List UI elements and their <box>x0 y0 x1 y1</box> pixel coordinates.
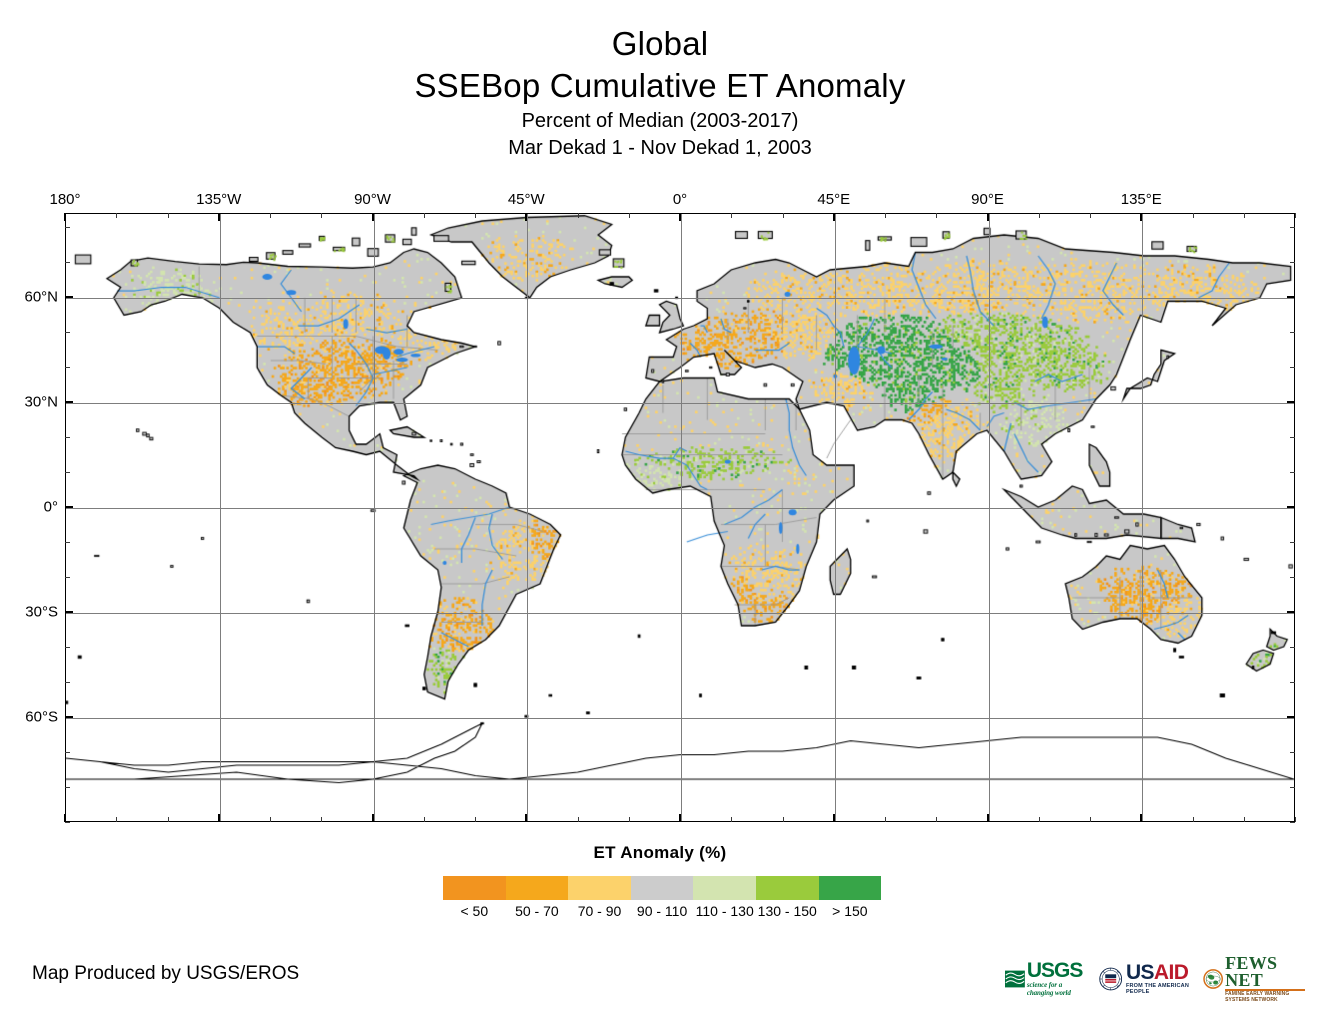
axis-tick-minor <box>65 542 70 543</box>
axis-tick <box>525 213 527 221</box>
longitude-tick-label: 90°E <box>971 191 1004 208</box>
axis-tick <box>987 814 989 822</box>
legend-label-0: < 50 <box>443 903 506 919</box>
latitude-tick-label: 60°S <box>10 709 58 726</box>
legend-color-bar <box>443 876 881 900</box>
axis-tick-minor <box>116 817 117 822</box>
axis-tick <box>525 814 527 822</box>
axis-tick-minor <box>1090 213 1091 218</box>
longitude-tick-label: 45°W <box>508 191 545 208</box>
axis-tick-minor <box>65 752 70 753</box>
axis-tick <box>372 213 374 221</box>
axis-tick-minor <box>1290 822 1295 823</box>
axis-tick-minor <box>65 682 70 683</box>
usgs-logo[interactable]: USGS science for a changing world <box>1005 961 1089 997</box>
legend-label-1: 50 - 70 <box>506 903 569 919</box>
usaid-logo[interactable]: USAID FROM THE AMERICAN PEOPLE <box>1099 963 1195 995</box>
axis-tick <box>65 611 73 613</box>
usaid-seal-icon <box>1099 964 1122 994</box>
usgs-wave-icon <box>1005 968 1025 990</box>
axis-tick-minor <box>1290 437 1295 438</box>
graticule-parallel <box>66 298 1294 299</box>
axis-tick <box>1287 296 1295 298</box>
axis-tick-minor <box>1290 367 1295 368</box>
axis-tick <box>1287 611 1295 613</box>
axis-tick-minor <box>65 822 70 823</box>
axis-tick-minor <box>65 367 70 368</box>
axis-tick <box>1140 213 1142 221</box>
axis-tick-minor <box>629 213 630 218</box>
axis-tick-minor <box>116 213 117 218</box>
axis-tick <box>218 814 220 822</box>
globe-icon <box>1203 964 1223 994</box>
axis-tick-minor <box>65 437 70 438</box>
legend-class-labels: < 5050 - 7070 - 9090 - 110110 - 130130 -… <box>443 903 881 919</box>
usaid-wordmark: USAID <box>1126 963 1195 983</box>
axis-tick-minor <box>1290 647 1295 648</box>
axis-tick <box>833 213 835 221</box>
graticule-meridian <box>374 214 375 821</box>
latitude-tick-label: 60°N <box>10 289 58 306</box>
axis-tick-minor <box>65 472 70 473</box>
axis-tick <box>679 213 681 221</box>
graticule-meridian <box>681 214 682 821</box>
axis-tick-minor <box>731 213 732 218</box>
axis-tick-minor <box>1090 817 1091 822</box>
axis-tick <box>65 401 73 403</box>
map-frame[interactable] <box>65 213 1295 822</box>
axis-tick-minor <box>424 817 425 822</box>
axis-tick <box>65 506 73 508</box>
axis-tick-minor <box>424 213 425 218</box>
axis-tick-minor <box>65 227 70 228</box>
page-title-line1: Global <box>0 24 1320 64</box>
legend-label-3: 90 - 110 <box>631 903 694 919</box>
page-title-line2: SSEBop Cumulative ET Anomaly <box>0 64 1320 108</box>
axis-tick-minor <box>629 817 630 822</box>
longitude-tick-label: 135°W <box>196 191 241 208</box>
axis-tick-minor <box>321 817 322 822</box>
axis-tick <box>679 814 681 822</box>
axis-tick <box>1287 401 1295 403</box>
axis-tick-minor <box>885 817 886 822</box>
fewsnet-logo[interactable]: FEWS NET FAMINE EARLY WARNING SYSTEMS NE… <box>1203 955 1305 1003</box>
axis-tick-minor <box>270 817 271 822</box>
longitude-tick-label: 90°W <box>354 191 391 208</box>
axis-tick-minor <box>1244 817 1245 822</box>
page-subtitle-daterange: Mar Dekad 1 - Nov Dekad 1, 2003 <box>0 135 1320 162</box>
axis-tick-minor <box>270 213 271 218</box>
axis-tick-minor <box>168 817 169 822</box>
axis-tick-minor <box>1290 752 1295 753</box>
axis-tick-minor <box>936 817 937 822</box>
axis-tick-minor <box>65 332 70 333</box>
axis-tick <box>65 296 73 298</box>
longitude-tick-label: 45°E <box>817 191 850 208</box>
usaid-tagline: FROM THE AMERICAN PEOPLE <box>1126 983 1195 995</box>
axis-tick-minor <box>65 262 70 263</box>
legend-swatch-5 <box>756 876 819 900</box>
axis-tick <box>218 213 220 221</box>
axis-tick-minor <box>1290 577 1295 578</box>
map-raster[interactable] <box>66 214 1294 821</box>
graticule-meridian <box>220 214 221 821</box>
axis-tick <box>1287 506 1295 508</box>
fewsnet-wordmark: FEWS NET <box>1225 955 1305 989</box>
longitude-tick-label: 135°E <box>1121 191 1162 208</box>
axis-tick-minor <box>578 817 579 822</box>
longitude-tick-label: 0° <box>673 191 687 208</box>
usgs-wordmark: USGS <box>1027 961 1089 980</box>
axis-tick <box>372 814 374 822</box>
axis-tick-minor <box>731 817 732 822</box>
fewsnet-tagline: FAMINE EARLY WARNING SYSTEMS NETWORK <box>1225 991 1305 1003</box>
axis-tick-minor <box>578 213 579 218</box>
axis-tick <box>833 814 835 822</box>
graticule-parallel <box>66 508 1294 509</box>
legend-swatch-6 <box>819 876 882 900</box>
axis-tick-minor <box>1295 817 1296 822</box>
legend-label-6: > 150 <box>819 903 882 919</box>
axis-tick-minor <box>1290 472 1295 473</box>
axis-tick <box>65 716 73 718</box>
graticule-meridian <box>989 214 990 821</box>
axis-tick-minor <box>1193 213 1194 218</box>
latitude-tick-label: 0° <box>10 499 58 516</box>
page-subtitle-period: Percent of Median (2003-2017) <box>0 108 1320 135</box>
graticule-meridian <box>527 214 528 821</box>
latitude-tick-label: 30°N <box>10 394 58 411</box>
axis-tick-minor <box>1290 332 1295 333</box>
axis-tick-minor <box>65 787 70 788</box>
legend-label-2: 70 - 90 <box>568 903 631 919</box>
axis-tick-minor <box>1290 227 1295 228</box>
axis-tick <box>1140 814 1142 822</box>
axis-tick-minor <box>1295 213 1296 218</box>
latitude-tick-label: 30°S <box>10 604 58 621</box>
usgs-tagline: science for a changing world <box>1027 981 1089 997</box>
legend-swatch-0 <box>443 876 506 900</box>
axis-tick <box>64 814 66 822</box>
legend-title: ET Anomaly (%) <box>0 843 1320 863</box>
axis-tick-minor <box>65 647 70 648</box>
graticule-parallel <box>66 403 1294 404</box>
axis-tick-minor <box>1290 787 1295 788</box>
graticule-meridian <box>835 214 836 821</box>
graticule-parallel <box>66 613 1294 614</box>
legend-swatch-3 <box>631 876 694 900</box>
axis-tick-minor <box>1193 817 1194 822</box>
axis-tick-minor <box>475 817 476 822</box>
axis-tick-minor <box>1039 817 1040 822</box>
graticule-parallel <box>66 718 1294 719</box>
map-credit: Map Produced by USGS/EROS <box>32 963 299 985</box>
axis-tick-minor <box>65 577 70 578</box>
axis-tick <box>64 213 66 221</box>
axis-tick-minor <box>936 213 937 218</box>
legend-swatch-2 <box>568 876 631 900</box>
axis-tick-minor <box>1039 213 1040 218</box>
legend-label-4: 110 - 130 <box>693 903 756 919</box>
axis-tick-minor <box>783 817 784 822</box>
title-block: Global SSEBop Cumulative ET Anomaly Perc… <box>0 24 1320 162</box>
axis-tick-minor <box>1290 262 1295 263</box>
axis-tick <box>1287 716 1295 718</box>
axis-tick-minor <box>885 213 886 218</box>
axis-tick-minor <box>1244 213 1245 218</box>
axis-tick <box>987 213 989 221</box>
legend-label-5: 130 - 150 <box>756 903 819 919</box>
legend-swatch-1 <box>506 876 569 900</box>
legend: ET Anomaly (%) <box>0 843 1320 863</box>
axis-tick-minor <box>1290 682 1295 683</box>
axis-tick-minor <box>783 213 784 218</box>
axis-tick-minor <box>168 213 169 218</box>
agency-logos: USGS science for a changing world USAID <box>1005 955 1305 1003</box>
axis-tick-minor <box>1290 542 1295 543</box>
axis-tick-minor <box>475 213 476 218</box>
legend-swatch-4 <box>693 876 756 900</box>
longitude-tick-label: 180° <box>49 191 80 208</box>
graticule-meridian <box>1142 214 1143 821</box>
axis-tick-minor <box>321 213 322 218</box>
